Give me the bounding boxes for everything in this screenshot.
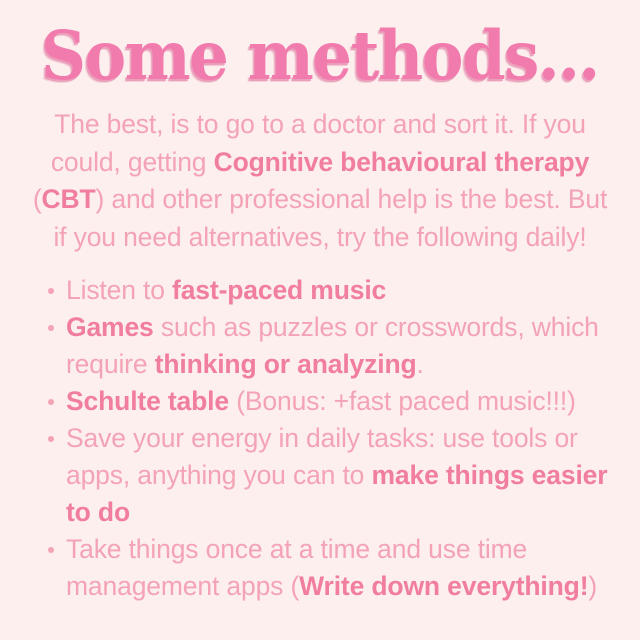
poster-canvas: Some methods... The best, is to go to a …	[0, 0, 640, 640]
list-item: Save your energy in daily tasks: use too…	[44, 420, 624, 531]
bullet-dot-icon	[48, 547, 54, 553]
title-container: Some methods...	[0, 22, 640, 90]
list-item-text: Take things once at a time and use time …	[66, 531, 624, 605]
bullet-dot-icon	[48, 325, 54, 331]
page-title: Some methods...	[41, 22, 599, 90]
list-item-text: Games such as puzzles or crosswords, whi…	[66, 309, 624, 383]
bullet-dot-icon	[48, 399, 54, 405]
list-item: Schulte table (Bonus: +fast paced music!…	[44, 383, 624, 420]
list-item-text: Schulte table (Bonus: +fast paced music!…	[66, 383, 624, 420]
intro-paragraph: The best, is to go to a doctor and sort …	[24, 106, 616, 256]
list-item-text: Listen to fast-paced music	[66, 272, 624, 309]
list-item: Games such as puzzles or crosswords, whi…	[44, 309, 624, 383]
methods-list: Listen to fast-paced music Games such as…	[44, 272, 624, 605]
list-item: Listen to fast-paced music	[44, 272, 624, 309]
list-item: Take things once at a time and use time …	[44, 531, 624, 605]
bullet-dot-icon	[48, 288, 54, 294]
list-item-text: Save your energy in daily tasks: use too…	[66, 420, 624, 531]
bullet-dot-icon	[48, 436, 54, 442]
